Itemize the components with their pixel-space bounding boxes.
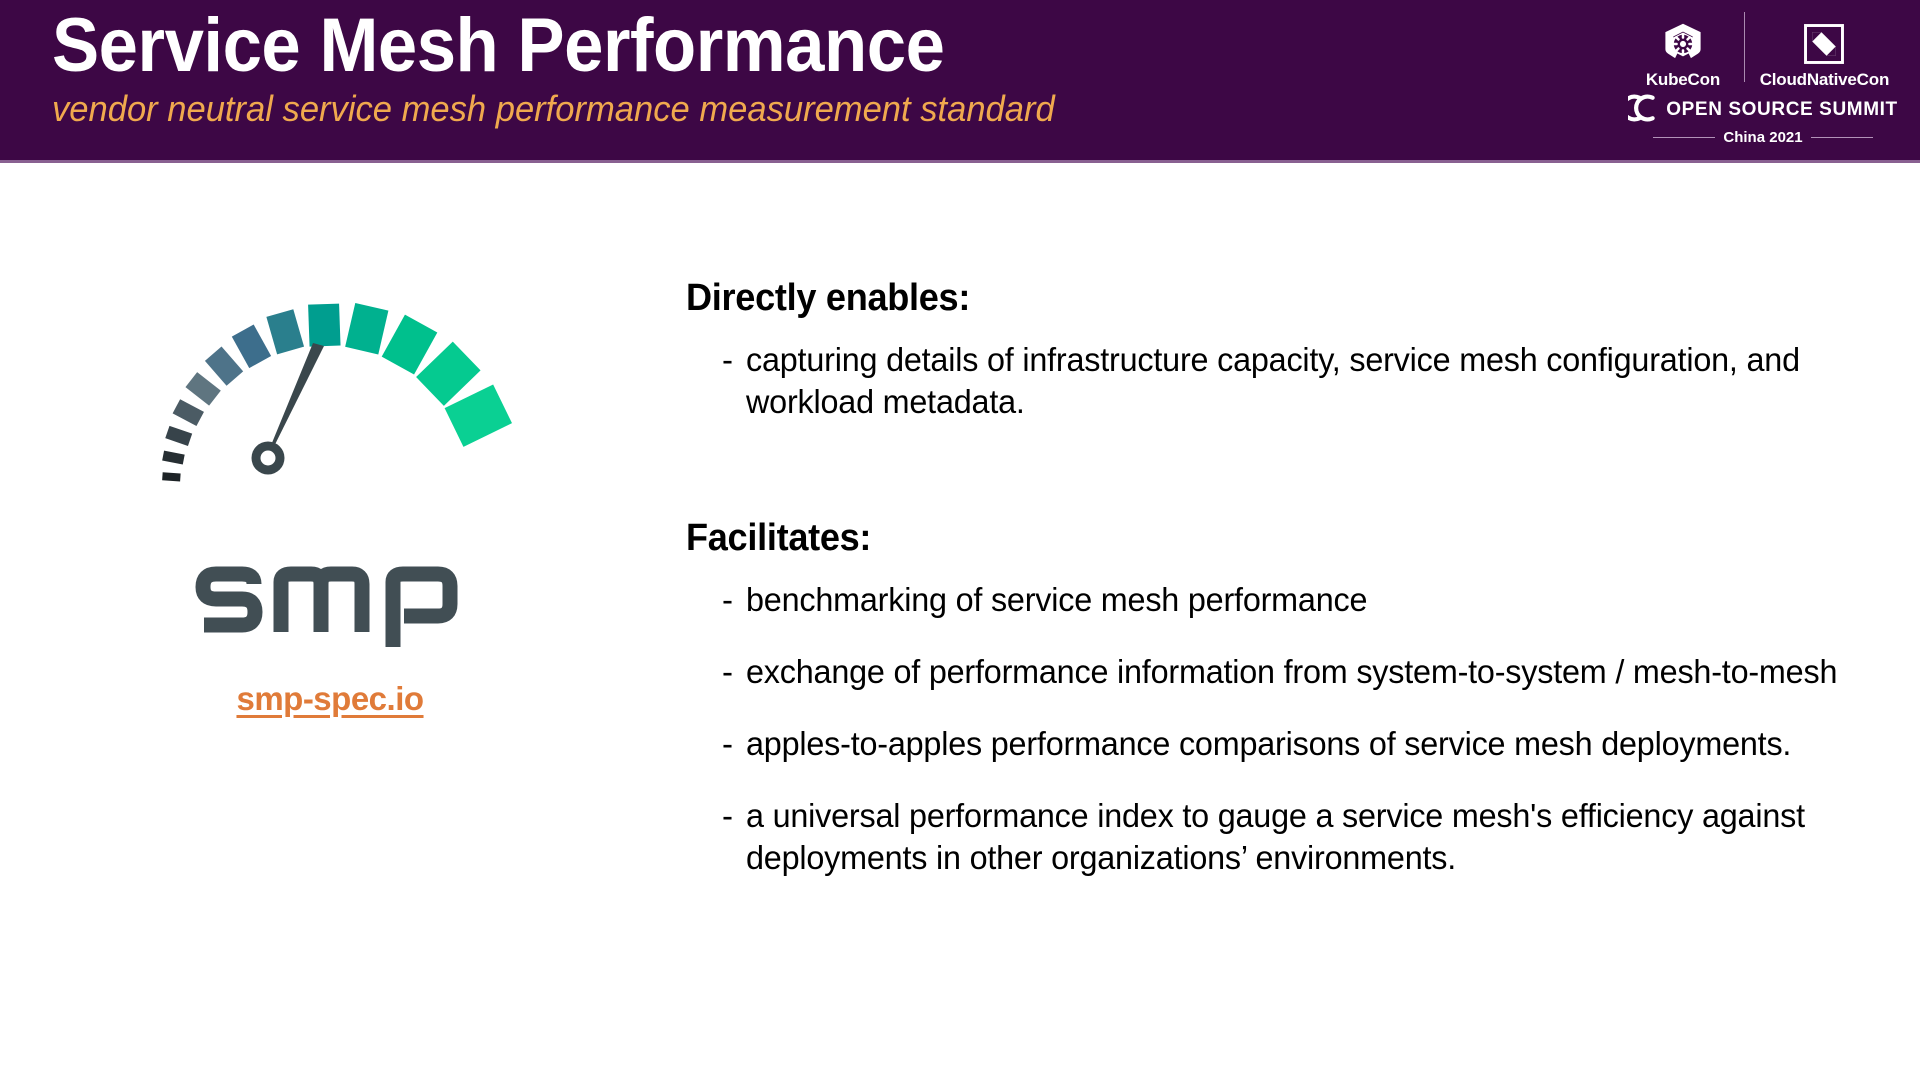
open-source-summit-label: OPEN SOURCE SUMMIT bbox=[1666, 99, 1897, 121]
kubernetes-helm-icon bbox=[1661, 22, 1705, 66]
rule-left bbox=[1653, 137, 1715, 138]
logo-divider bbox=[1744, 12, 1745, 82]
smp-spec-link[interactable]: smp-spec.io bbox=[236, 680, 423, 717]
bullet-list-facilitates: - benchmarking of service mesh performan… bbox=[686, 579, 1876, 879]
section-facilitates: Facilitates: - benchmarking of service m… bbox=[686, 515, 1876, 879]
open-source-summit-row: OPEN SOURCE SUMMIT bbox=[1628, 92, 1898, 128]
gauge-icon bbox=[120, 250, 540, 550]
content-panel: Directly enables: - capturing details of… bbox=[686, 275, 1876, 909]
event-location-year: China 2021 bbox=[1723, 129, 1802, 146]
list-item: - a universal performance index to gauge… bbox=[686, 795, 1876, 879]
rule-right bbox=[1811, 137, 1873, 138]
bullet-list-directly-enables: - capturing details of infrastructure ca… bbox=[686, 339, 1876, 423]
gauge-needle bbox=[252, 343, 325, 475]
title-block: Service Mesh Performance vendor neutral … bbox=[52, 4, 1612, 130]
section-directly-enables: Directly enables: - capturing details of… bbox=[686, 275, 1876, 423]
bullet-marker: - bbox=[686, 723, 746, 765]
cncf-square-icon bbox=[1803, 22, 1845, 66]
bullet-text: exchange of performance information from… bbox=[746, 651, 1853, 693]
page-title: Service Mesh Performance bbox=[52, 4, 1503, 88]
kubecon-logo: KubeCon bbox=[1628, 22, 1738, 90]
list-item: - apples-to-apples performance compariso… bbox=[686, 723, 1876, 765]
cloudnativecon-label: CloudNativeCon bbox=[1760, 70, 1889, 90]
kubecon-label: KubeCon bbox=[1646, 70, 1720, 90]
list-item: - exchange of performance information fr… bbox=[686, 651, 1876, 693]
cloudnativecon-logo: CloudNativeCon bbox=[1751, 22, 1898, 90]
list-item: - capturing details of infrastructure ca… bbox=[686, 339, 1876, 423]
section-heading-facilitates: Facilitates: bbox=[686, 515, 1817, 561]
list-item: - benchmarking of service mesh performan… bbox=[686, 579, 1876, 621]
slide-header: Service Mesh Performance vendor neutral … bbox=[0, 0, 1920, 163]
gauge-segments bbox=[162, 303, 512, 482]
smp-wordmark-icon bbox=[180, 552, 480, 656]
page-subtitle: vendor neutral service mesh performance … bbox=[52, 88, 1550, 130]
event-logo: KubeCon CloudNativeCon bbox=[1628, 8, 1898, 153]
event-logo-top-row: KubeCon CloudNativeCon bbox=[1628, 8, 1898, 90]
bullet-marker: - bbox=[686, 339, 746, 381]
bullet-text: benchmarking of service mesh performance bbox=[746, 579, 1853, 621]
smp-spec-link-wrap: smp-spec.io bbox=[95, 680, 565, 718]
header-underline bbox=[0, 160, 1920, 163]
bullet-marker: - bbox=[686, 651, 746, 693]
bullet-text: capturing details of infrastructure capa… bbox=[746, 339, 1853, 423]
smp-gauge-graphic bbox=[120, 250, 540, 550]
bullet-text: apples-to-apples performance comparisons… bbox=[746, 723, 1853, 765]
bullet-marker: - bbox=[686, 795, 746, 837]
open-source-summit-s-icon bbox=[1628, 90, 1664, 131]
bullet-text: a universal performance index to gauge a… bbox=[746, 795, 1853, 879]
event-location-year-row: China 2021 bbox=[1628, 129, 1898, 146]
section-spacer bbox=[686, 463, 1876, 515]
smp-logo-panel: smp-spec.io bbox=[95, 250, 565, 780]
bullet-marker: - bbox=[686, 579, 746, 621]
section-heading-directly-enables: Directly enables: bbox=[686, 275, 1817, 321]
smp-wordmark bbox=[95, 552, 565, 661]
